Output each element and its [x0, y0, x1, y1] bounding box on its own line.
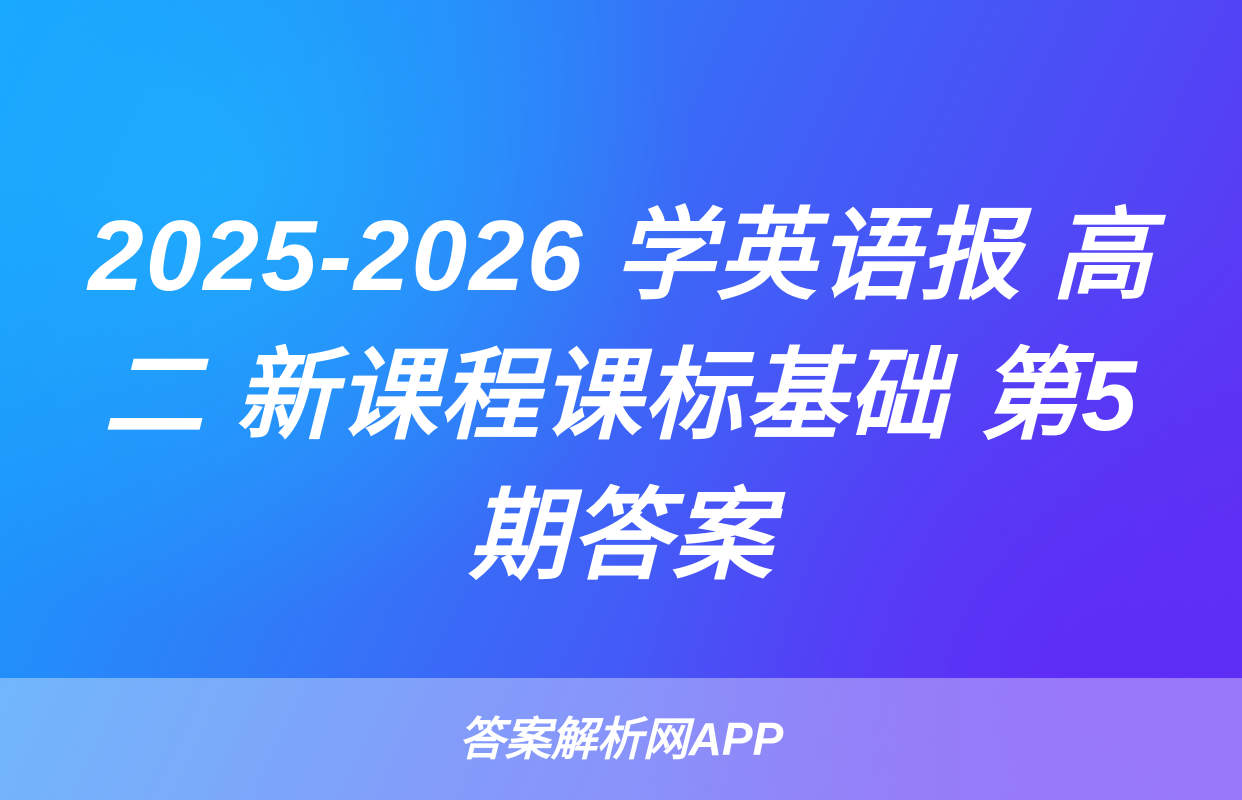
title-line-2: 二 新课程课标基础 第5: [28, 326, 1214, 466]
footer-brand-bar: 答案解析网APP: [0, 678, 1242, 800]
answer-poster: 2025-2026 学英语报 高 二 新课程课标基础 第5 期答案 答案解析网A…: [0, 0, 1242, 800]
page-title: 2025-2026 学英语报 高 二 新课程课标基础 第5 期答案: [0, 186, 1242, 606]
title-line-1: 2025-2026 学英语报 高: [28, 186, 1214, 326]
footer-brand-label: 答案解析网APP: [459, 716, 784, 762]
title-line-3: 期答案: [28, 466, 1214, 606]
